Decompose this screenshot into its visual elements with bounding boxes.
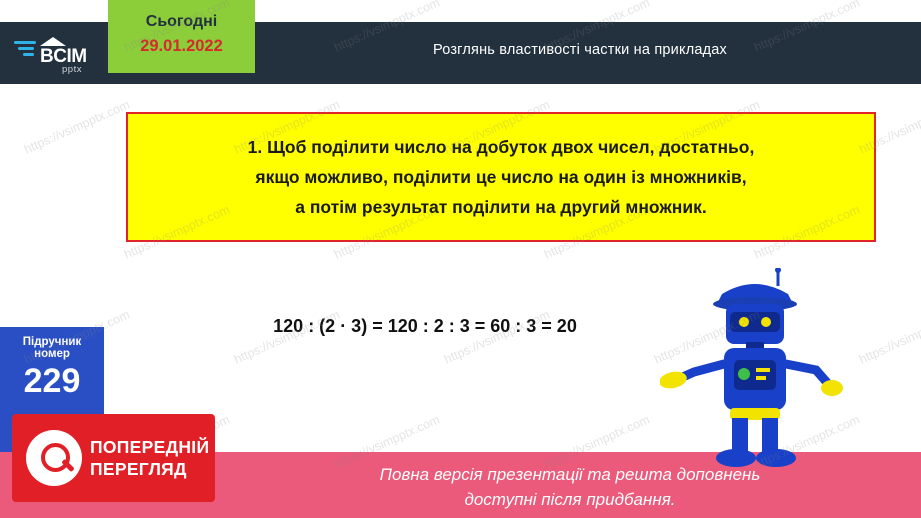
robot-illustration [660,268,850,468]
exercise-number: 229 [0,362,104,400]
date-badge-today-label: Сьогодні [108,13,255,31]
date-badge-date: 29.01.2022 [108,37,255,56]
logo-lines-icon [14,41,36,61]
bottom-message: Повна версія презентації та решта доповн… [230,462,910,512]
slide: BCIM pptx Розглянь властивості частки на… [0,0,921,518]
watermark: https://vsimpptx.com [857,307,921,366]
preview-badge[interactable]: ПОПЕРЕДНІЙ ПЕРЕГЛЯД [12,414,215,502]
rule-line-2: якщо можливо, поділити це число на один … [255,162,746,192]
watermark: https://vsimpptx.com [22,97,132,156]
graduation-cap-icon [40,37,66,46]
page-title: Розглянь властивості частки на прикладах [270,42,890,58]
math-expression: 120 : (2 · 3) = 120 : 2 : 3 = 60 : 3 = 2… [190,316,660,337]
textbook-label: Підручник [0,336,104,348]
number-label: номер [0,348,104,360]
bottom-message-line2: доступні після придбання. [230,487,910,512]
rule-box: 1. Щоб поділити число на добуток двох чи… [126,112,876,242]
logo-subtext: pptx [62,64,82,75]
rule-line-1: 1. Щоб поділити число на добуток двох чи… [248,132,755,162]
preview-badge-text: ПОПЕРЕДНІЙ ПЕРЕГЛЯД [90,436,209,480]
rule-line-3: а потім результат поділити на другий мно… [295,192,706,222]
preview-badge-line2: ПЕРЕГЛЯД [90,458,209,480]
date-badge: Сьогодні 29.01.2022 [108,0,255,73]
magnifier-icon [26,430,82,486]
preview-badge-line1: ПОПЕРЕДНІЙ [90,436,209,458]
